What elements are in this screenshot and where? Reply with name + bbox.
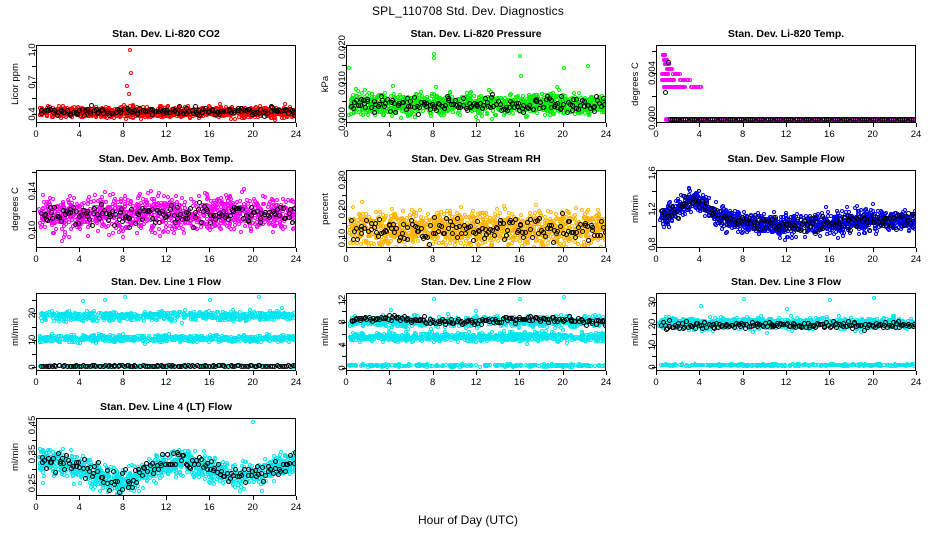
data-point xyxy=(86,234,90,238)
data-point xyxy=(145,219,149,223)
data-point xyxy=(356,89,360,93)
data-point xyxy=(511,111,515,115)
data-point xyxy=(532,245,536,248)
data-point xyxy=(87,217,92,222)
data-point xyxy=(464,247,468,248)
data-point xyxy=(432,56,436,60)
data-point xyxy=(72,196,76,200)
data-point xyxy=(127,216,132,221)
y-axis-label: kPa xyxy=(320,76,331,92)
data-point xyxy=(268,221,272,225)
chart-title: Stan. Dev. Li-820 CO2 xyxy=(36,28,296,40)
data-point xyxy=(152,199,156,203)
y-tick-label: 0.004 xyxy=(647,61,658,85)
data-point xyxy=(443,103,448,108)
data-point xyxy=(271,230,275,234)
x-tick-label: 16 xyxy=(514,129,525,140)
data-point xyxy=(112,116,116,120)
data-point xyxy=(572,91,576,95)
y-tick-label: 0.020 xyxy=(337,35,348,59)
x-tick-mark xyxy=(79,123,80,127)
x-tick-label: 20 xyxy=(557,129,568,140)
x-tick-label: 12 xyxy=(781,129,792,140)
x-tick-label: 4 xyxy=(77,254,82,265)
x-tick-label: 4 xyxy=(77,129,82,140)
data-point xyxy=(480,114,484,118)
data-point xyxy=(49,210,54,215)
data-point xyxy=(277,213,282,218)
x-tick-mark xyxy=(743,123,744,127)
data-point xyxy=(52,205,57,210)
y-minor-tick-mark xyxy=(652,51,656,52)
y-minor-tick-mark xyxy=(32,211,36,212)
data-point xyxy=(481,241,485,245)
data-point xyxy=(592,109,597,114)
data-point xyxy=(232,227,236,231)
data-point xyxy=(519,213,523,217)
data-point xyxy=(127,92,131,96)
data-point xyxy=(153,231,157,235)
data-point xyxy=(699,85,703,89)
data-point xyxy=(168,224,172,228)
data-point xyxy=(565,110,570,115)
x-tick-label: 12 xyxy=(161,254,172,265)
data-point xyxy=(128,202,132,206)
data-point xyxy=(554,94,558,98)
y-tick-label: 0.000 xyxy=(647,107,658,131)
data-point xyxy=(104,200,108,204)
data-point xyxy=(273,118,277,122)
data-point xyxy=(401,209,405,213)
data-point xyxy=(586,64,590,68)
data-point xyxy=(135,231,139,235)
data-point xyxy=(268,200,272,204)
data-point xyxy=(428,218,432,222)
x-tick-mark xyxy=(296,248,297,252)
data-point xyxy=(93,193,97,197)
x-tick-mark xyxy=(36,123,37,127)
y-axis-label: degrees C xyxy=(630,62,641,106)
x-tick-mark xyxy=(916,123,917,127)
data-point xyxy=(238,199,242,203)
data-point xyxy=(158,234,162,238)
x-tick-mark xyxy=(873,123,874,127)
data-point xyxy=(213,203,217,207)
x-tick-label: 16 xyxy=(204,254,215,265)
data-point xyxy=(414,247,418,248)
data-point xyxy=(441,240,445,244)
x-tick-label: 20 xyxy=(867,129,878,140)
data-point xyxy=(459,241,463,245)
x-tick-mark xyxy=(123,248,124,252)
data-point xyxy=(498,102,503,107)
data-point xyxy=(128,48,132,52)
data-point xyxy=(157,220,162,225)
x-tick-label: 24 xyxy=(291,129,302,140)
plot-area xyxy=(656,45,916,123)
data-point xyxy=(410,246,414,248)
data-point xyxy=(255,225,259,229)
y-tick-label: 0.14 xyxy=(27,182,38,201)
data-point xyxy=(95,221,99,225)
y-axis-label: degrees C xyxy=(10,187,21,231)
data-point xyxy=(490,117,494,121)
x-tick-mark xyxy=(476,123,477,127)
x-tick-label: 24 xyxy=(601,129,612,140)
data-point xyxy=(275,198,279,202)
data-point xyxy=(63,233,67,237)
data-point xyxy=(121,235,125,239)
data-point xyxy=(292,113,296,118)
data-point xyxy=(45,218,50,223)
x-tick-label: 0 xyxy=(653,129,658,140)
x-tick-label: 4 xyxy=(697,129,702,140)
data-point xyxy=(400,100,405,105)
x-tick-mark xyxy=(433,123,434,127)
data-point xyxy=(68,210,73,215)
chart-title: Stan. Dev. Li-820 Temp. xyxy=(656,28,916,40)
y-tick-label: 1.0 xyxy=(27,44,38,57)
x-tick-mark xyxy=(253,123,254,127)
data-point xyxy=(237,222,241,226)
data-point xyxy=(143,115,147,119)
x-tick-mark xyxy=(519,123,520,127)
data-point xyxy=(543,113,547,117)
data-point xyxy=(119,228,123,232)
data-point xyxy=(108,193,112,197)
data-point xyxy=(294,200,296,204)
chart-title: Stan. Dev. Gas Stream RH xyxy=(346,153,606,165)
data-point xyxy=(524,115,528,119)
data-point xyxy=(239,230,243,234)
data-point xyxy=(203,191,207,195)
data-point xyxy=(99,202,104,207)
data-point xyxy=(52,231,56,235)
y-minor-tick-mark xyxy=(652,96,656,97)
data-point xyxy=(523,247,527,248)
x-tick-mark xyxy=(123,123,124,127)
data-point xyxy=(157,227,161,231)
data-point xyxy=(448,211,452,215)
x-tick-mark xyxy=(166,248,167,252)
data-point xyxy=(533,211,537,215)
data-point xyxy=(535,111,539,115)
data-point xyxy=(351,106,356,111)
x-tick-mark xyxy=(786,123,787,127)
data-point xyxy=(180,196,184,200)
x-tick-mark xyxy=(563,123,564,127)
data-point xyxy=(69,227,73,231)
data-point xyxy=(51,221,55,225)
data-point xyxy=(541,105,546,110)
x-tick-label: 8 xyxy=(120,254,125,265)
data-point xyxy=(574,97,579,102)
data-point xyxy=(261,194,265,198)
data-point xyxy=(587,113,591,117)
data-point xyxy=(89,200,93,204)
data-point xyxy=(243,224,247,228)
data-point xyxy=(390,207,394,211)
chart-panel-2: Stan. Dev. Li-820 Pressure048121620240.0… xyxy=(310,28,610,142)
x-tick-label: 20 xyxy=(247,129,258,140)
data-point xyxy=(45,114,49,118)
data-point xyxy=(559,94,564,99)
data-point xyxy=(162,194,166,198)
x-tick-mark xyxy=(79,248,80,252)
data-point xyxy=(456,111,460,115)
data-point xyxy=(172,231,176,235)
data-point xyxy=(41,193,45,197)
data-point xyxy=(407,113,411,117)
data-point xyxy=(127,225,132,230)
data-point xyxy=(43,225,47,229)
data-point xyxy=(546,209,550,213)
data-point xyxy=(48,196,52,200)
x-tick-label: 12 xyxy=(471,129,482,140)
data-point xyxy=(222,221,226,225)
data-point xyxy=(663,53,667,57)
data-point xyxy=(146,191,150,195)
x-tick-label: 24 xyxy=(911,129,922,140)
data-point xyxy=(394,245,398,248)
data-point xyxy=(683,85,687,89)
x-tick-label: 16 xyxy=(204,129,215,140)
y-tick-label: 0.7 xyxy=(27,76,38,89)
data-point xyxy=(106,224,110,228)
data-point xyxy=(68,194,72,198)
data-point xyxy=(166,230,170,234)
x-tick-label: 8 xyxy=(740,129,745,140)
data-point xyxy=(111,231,115,235)
data-point xyxy=(112,223,117,228)
x-tick-label: 20 xyxy=(247,254,258,265)
data-point xyxy=(672,78,676,82)
x-tick-mark xyxy=(209,123,210,127)
data-point xyxy=(366,113,370,117)
x-tick-mark xyxy=(606,123,607,127)
data-point xyxy=(494,113,498,117)
data-point xyxy=(76,221,81,226)
data-point xyxy=(96,229,100,233)
data-point xyxy=(59,219,64,224)
x-tick-label: 0 xyxy=(33,129,38,140)
data-point xyxy=(678,72,682,76)
data-point xyxy=(552,112,556,116)
data-point xyxy=(285,115,289,119)
data-point xyxy=(393,110,398,115)
data-point xyxy=(472,94,476,98)
data-point xyxy=(451,110,455,114)
x-tick-mark xyxy=(209,248,210,252)
data-point xyxy=(562,66,566,70)
data-point xyxy=(359,242,363,246)
data-point xyxy=(601,96,606,101)
chart-panel-5: Stan. Dev. Gas Stream RH048121620240.100… xyxy=(310,153,610,267)
data-point xyxy=(442,113,446,117)
data-point xyxy=(166,195,170,199)
chart-title: Stan. Dev. Li-820 Pressure xyxy=(346,28,606,40)
data-point xyxy=(197,194,201,198)
data-point xyxy=(252,197,256,201)
data-point xyxy=(90,223,95,228)
y-tick-label: 0.000 xyxy=(337,107,348,131)
data-point xyxy=(434,108,439,113)
data-point xyxy=(670,67,674,71)
data-point xyxy=(240,190,244,194)
data-point xyxy=(181,227,185,231)
data-point xyxy=(197,200,202,205)
data-point xyxy=(485,111,489,115)
data-point xyxy=(347,66,351,70)
data-point xyxy=(391,84,395,88)
plot-area xyxy=(346,170,606,248)
data-point xyxy=(602,102,606,107)
data-point xyxy=(399,116,403,120)
data-point xyxy=(605,49,606,53)
data-point xyxy=(92,206,97,211)
data-point xyxy=(228,222,232,226)
data-point xyxy=(292,206,296,211)
data-point xyxy=(577,91,581,95)
data-point xyxy=(156,194,160,198)
y-minor-tick-mark xyxy=(342,101,346,102)
data-point xyxy=(60,239,64,243)
data-point xyxy=(534,203,538,207)
chart-panel-3: Stan. Dev. Li-820 Temp.048121620240.0000… xyxy=(620,28,920,142)
data-point xyxy=(183,200,187,204)
data-point xyxy=(604,111,606,115)
data-point xyxy=(508,93,512,97)
data-point xyxy=(434,85,438,89)
x-tick-mark xyxy=(166,123,167,127)
data-point xyxy=(159,201,163,205)
x-tick-label: 4 xyxy=(387,129,392,140)
x-tick-mark xyxy=(389,123,390,127)
data-point xyxy=(382,113,386,117)
page-title: SPL_110708 Std. Dev. Diagnostics xyxy=(0,4,936,18)
data-point xyxy=(281,197,285,201)
y-tick-label: 0.010 xyxy=(337,71,348,95)
data-point xyxy=(136,196,140,200)
x-tick-label: 0 xyxy=(33,254,38,265)
y-minor-tick-mark xyxy=(32,172,36,173)
data-point xyxy=(185,216,190,221)
data-point xyxy=(67,235,71,239)
data-point xyxy=(495,207,499,211)
x-tick-mark xyxy=(829,123,830,127)
data-point xyxy=(280,116,284,120)
data-point xyxy=(592,104,597,109)
data-point xyxy=(416,239,420,243)
chart-title: Stan. Dev. Amb. Box Temp. xyxy=(36,153,296,165)
data-point xyxy=(50,115,54,119)
data-point xyxy=(174,194,178,198)
data-point xyxy=(519,74,523,78)
y-tick-label: 0.4 xyxy=(27,108,38,121)
data-point xyxy=(363,105,368,110)
data-point xyxy=(242,116,246,120)
x-tick-mark xyxy=(36,248,37,252)
data-point xyxy=(85,209,90,214)
y-minor-tick-mark xyxy=(342,65,346,66)
data-point xyxy=(688,78,692,82)
data-point xyxy=(107,233,111,237)
data-point xyxy=(666,72,670,76)
data-point xyxy=(518,54,522,58)
data-point xyxy=(226,217,231,222)
x-tick-label: 8 xyxy=(120,129,125,140)
data-point xyxy=(360,200,364,204)
x-tick-label: 24 xyxy=(291,254,302,265)
x-tick-label: 16 xyxy=(824,129,835,140)
data-point xyxy=(273,224,277,228)
plot-area xyxy=(36,45,296,123)
data-point xyxy=(199,220,204,225)
data-point xyxy=(129,71,133,75)
x-tick-mark xyxy=(699,123,700,127)
data-point xyxy=(182,231,186,235)
data-point xyxy=(249,229,253,233)
data-point xyxy=(484,211,488,215)
data-point xyxy=(292,226,296,230)
y-minor-tick-mark xyxy=(32,98,36,99)
data-point xyxy=(248,199,252,203)
x-tick-label: 8 xyxy=(430,129,435,140)
data-point xyxy=(911,117,916,122)
y-axis-label: Licor ppm xyxy=(10,63,21,105)
data-point xyxy=(410,208,414,212)
data-point xyxy=(233,220,237,224)
chart-panel-4: Stan. Dev. Amb. Box Temp.048121620240.10… xyxy=(0,153,300,267)
y-minor-tick-mark xyxy=(32,66,36,67)
data-point xyxy=(284,200,288,204)
plot-area xyxy=(36,170,296,248)
plot-area xyxy=(346,45,606,123)
data-point xyxy=(100,195,104,199)
data-point xyxy=(283,225,287,229)
data-point xyxy=(416,112,421,117)
data-point xyxy=(233,223,237,227)
x-tick-mark xyxy=(296,123,297,127)
data-point xyxy=(261,202,265,206)
chart-panel-1: Stan. Dev. Li-820 CO2048121620240.40.71.… xyxy=(0,28,300,142)
data-point xyxy=(663,90,668,95)
data-point xyxy=(191,225,196,230)
data-point xyxy=(208,228,212,232)
data-point xyxy=(103,190,107,194)
data-point xyxy=(294,212,296,216)
data-point xyxy=(125,84,129,88)
data-point xyxy=(82,113,87,118)
data-point xyxy=(290,220,295,225)
y-tick-label: 0.10 xyxy=(27,221,38,240)
data-point xyxy=(418,208,422,212)
data-point xyxy=(574,206,578,210)
x-tick-label: 12 xyxy=(161,129,172,140)
data-point xyxy=(149,189,153,193)
x-tick-mark xyxy=(253,248,254,252)
